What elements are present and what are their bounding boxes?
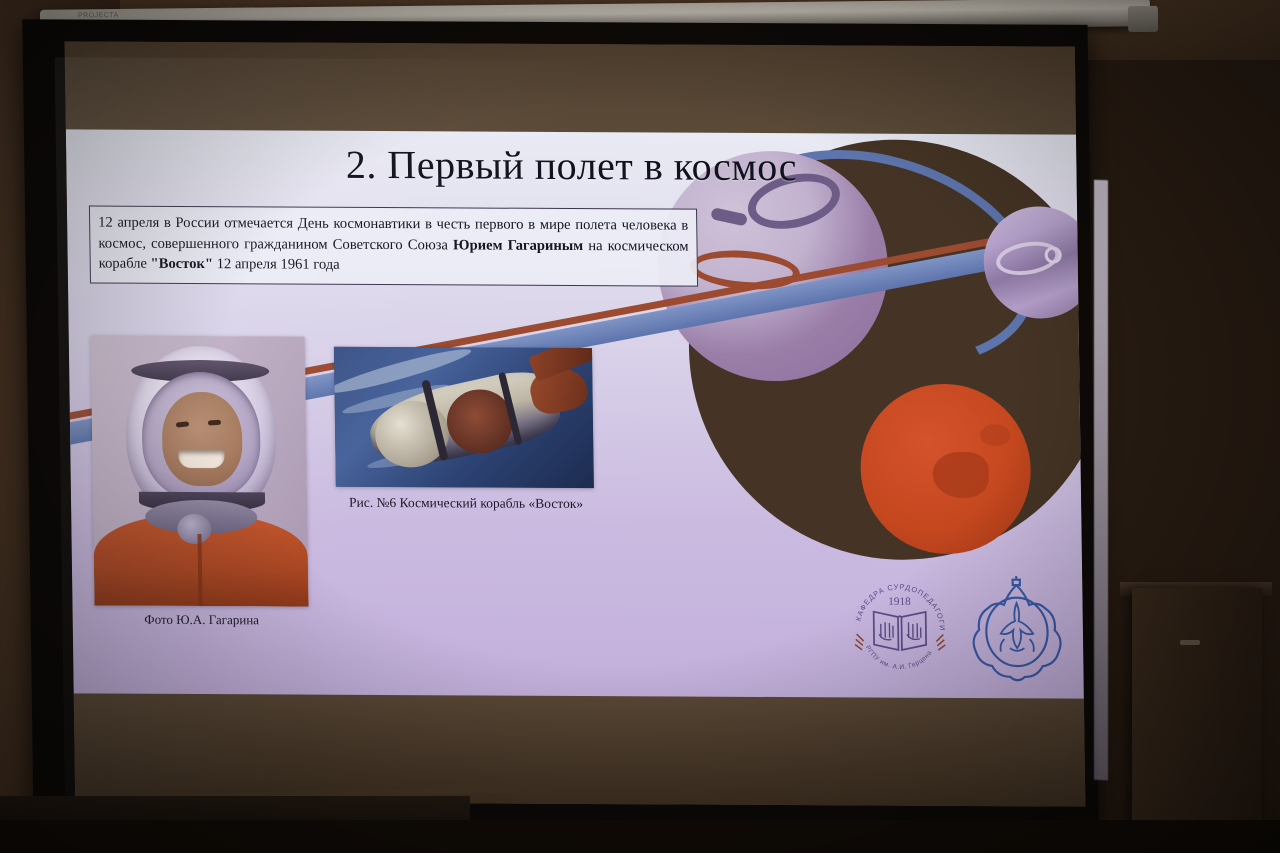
herzen-university-crest	[962, 572, 1072, 685]
cabinet-handle[interactable]	[1180, 640, 1200, 645]
unlit-band-top	[65, 41, 1076, 134]
gagarin-photo-caption: Фото Ю.А. Гагарина	[95, 611, 309, 628]
crest-inner-oval	[986, 598, 1048, 667]
eye-right	[208, 420, 221, 426]
hand-sign-icon	[907, 622, 921, 639]
emblem-year: 1918	[888, 596, 911, 608]
red-planet-surface-spot	[980, 424, 1010, 446]
textbox-bold-gagarin: Юрием Гагариным	[453, 237, 583, 254]
lecture-room: PROJECTA 2. Первый полет в космос	[0, 0, 1280, 853]
textbox-bold-vostok: "Восток"	[151, 256, 214, 272]
wheat-sprig-icon	[936, 635, 945, 651]
slide-title: 2. Первый полет в космос	[66, 139, 1077, 191]
floor	[0, 820, 1280, 853]
gagarin-face	[162, 392, 243, 486]
vostok-photo-caption: Рис. №6 Космический корабль «Восток»	[311, 495, 621, 513]
textbox-line-3-a: Союза	[408, 237, 454, 253]
kafedra-surdopedagogiki-emblem: КАФЕДРА СУРДОПЕДАГОГИКИ РГПУ им. А.И. Ге…	[847, 573, 952, 678]
crest-crown-icon	[1013, 576, 1020, 585]
textbox-line-1: 12 апреля в России отмечается День космо…	[98, 215, 535, 233]
presentation-slide[interactable]: 2. Первый полет в космос 12 апреля в Рос…	[66, 129, 1084, 698]
slide-textbox: 12 апреля в России отмечается День космо…	[89, 205, 698, 286]
gagarin-photo[interactable]	[91, 335, 309, 606]
projection-surface[interactable]: 2. Первый полет в космос 12 апреля в Рос…	[65, 41, 1086, 806]
small-planet-spot	[1045, 246, 1062, 263]
projector-light-spill	[1094, 180, 1108, 780]
textbox-line-3-c: 12	[213, 257, 231, 273]
hand-sign-icon	[879, 622, 893, 640]
unlit-band-bottom	[74, 693, 1086, 806]
textbox-line-4: апреля 1961 года	[235, 257, 340, 274]
smile	[178, 450, 224, 468]
suit-valve	[177, 514, 211, 544]
vostok-photo[interactable]	[334, 347, 594, 488]
pelican-icon	[1000, 603, 1034, 652]
roller-end-cap	[1128, 6, 1158, 32]
wheat-sprig-icon	[855, 634, 864, 650]
wooden-cabinet[interactable]	[1132, 588, 1262, 853]
